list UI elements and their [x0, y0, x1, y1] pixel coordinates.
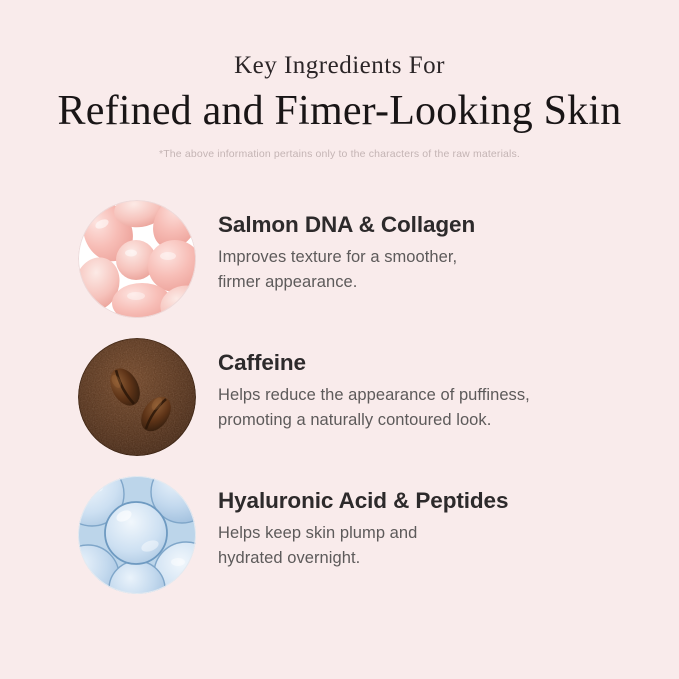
description-line: Helps keep skin plump and — [218, 521, 508, 546]
ingredients-infographic: Key Ingredients For Refined and Fimer-Lo… — [0, 0, 679, 679]
list-item: Caffeine Helps reduce the appearance of … — [78, 338, 679, 476]
description-line: Helps reduce the appearance of puffiness… — [218, 383, 530, 408]
page-title: Refined and Fimer-Looking Skin — [0, 88, 679, 135]
ingredient-title: Caffeine — [218, 349, 530, 376]
ingredient-text: Salmon DNA & Collagen Improves texture f… — [196, 200, 475, 295]
eyebrow-text: Key Ingredients For — [0, 52, 679, 80]
ingredient-title: Hyaluronic Acid & Peptides — [218, 487, 508, 514]
pink-bubbles-photo — [78, 200, 196, 318]
ingredient-title: Salmon DNA & Collagen — [218, 211, 475, 238]
ingredient-text: Hyaluronic Acid & Peptides Helps keep sk… — [196, 476, 508, 571]
ingredient-list: Salmon DNA & Collagen Improves texture f… — [0, 200, 679, 614]
list-item: Hyaluronic Acid & Peptides Helps keep sk… — [78, 476, 679, 614]
description-line: hydrated overnight. — [218, 546, 508, 571]
description-line: Improves texture for a smoother, — [218, 245, 475, 270]
description-line: firmer appearance. — [218, 270, 475, 295]
description-line: promoting a naturally contoured look. — [218, 408, 530, 433]
water-droplets-photo — [78, 476, 196, 594]
ingredient-description: Helps reduce the appearance of puffiness… — [218, 383, 530, 433]
list-item: Salmon DNA & Collagen Improves texture f… — [78, 200, 679, 338]
ingredient-text: Caffeine Helps reduce the appearance of … — [196, 338, 530, 433]
ingredient-description: Improves texture for a smoother, firmer … — [218, 245, 475, 295]
disclaimer-text: *The above information pertains only to … — [0, 148, 679, 160]
header: Key Ingredients For Refined and Fimer-Lo… — [0, 0, 679, 160]
coffee-grounds-photo — [78, 338, 196, 456]
ingredient-description: Helps keep skin plump and hydrated overn… — [218, 521, 508, 571]
